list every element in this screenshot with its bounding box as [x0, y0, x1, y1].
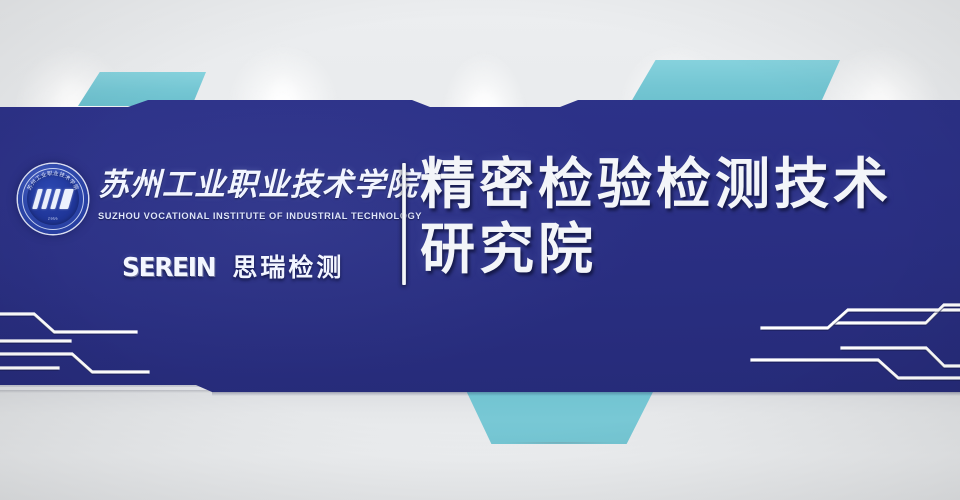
scene-vignette — [0, 0, 960, 500]
signage-scene: 苏州工业职业技术学院 1956 苏州工业职业技术学院 SUZHOU VOCATI… — [0, 0, 960, 500]
